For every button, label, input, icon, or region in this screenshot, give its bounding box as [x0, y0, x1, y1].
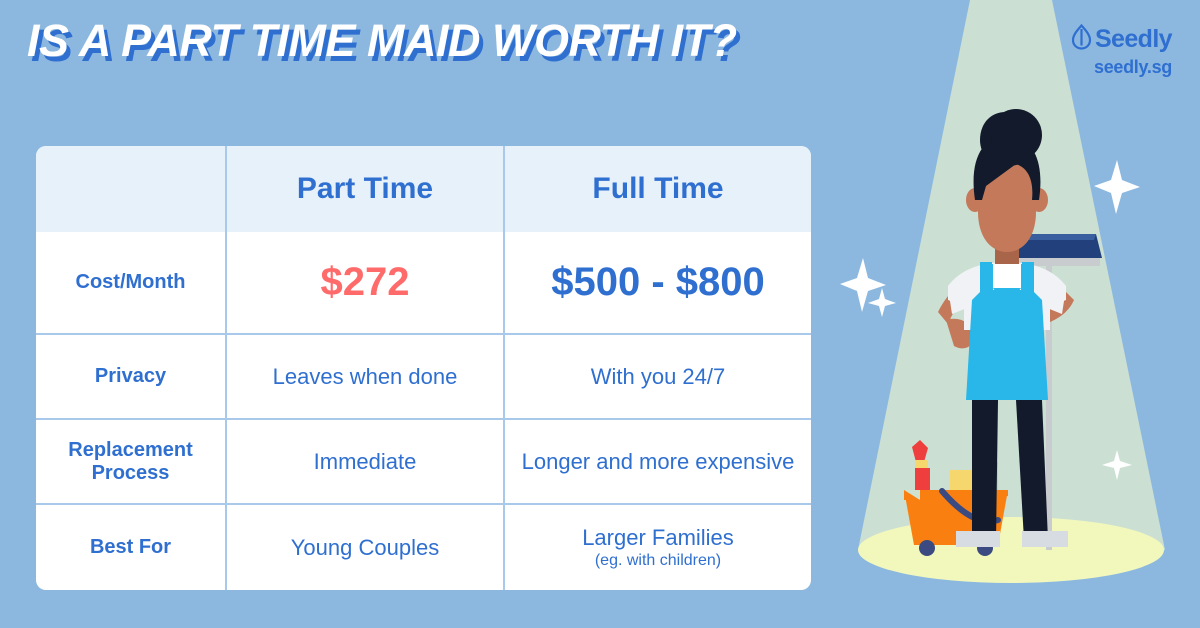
best-for-part-time-value: Young Couples: [291, 535, 439, 561]
row-label-best-for: Best For: [36, 505, 227, 590]
best-for-full-time-main: Larger Families: [582, 525, 734, 550]
cell-best-for-part-time: Young Couples: [227, 505, 505, 590]
floor-light-pool: [858, 517, 1164, 583]
brand-url: seedly.sg: [1071, 58, 1172, 76]
cell-replacement-full-time: Longer and more expensive: [505, 420, 811, 505]
page-title: IS A PART TIME MAID WORTH IT?: [27, 17, 737, 64]
cell-cost-part-time: $272: [227, 232, 505, 335]
apron-strap-right: [1022, 262, 1034, 300]
apron-bib-notch: [993, 264, 1021, 290]
table-header-corner: [36, 146, 227, 232]
seedly-leaf-drop-icon: [1071, 24, 1092, 55]
table-row: Replacement Process Immediate Longer and…: [36, 420, 811, 505]
sponge-icon: [950, 470, 974, 490]
replacement-full-time-value: Longer and more expensive: [522, 449, 795, 475]
replacement-part-time-value: Immediate: [314, 449, 417, 475]
illustration-scene: [820, 0, 1200, 628]
cell-cost-full-time: $500 - $800: [505, 232, 811, 335]
row-label-replacement: Replacement Process: [36, 420, 227, 505]
column-header-full-time: Full Time: [505, 146, 811, 232]
table-row: Cost/Month $272 $500 - $800: [36, 232, 811, 335]
cost-part-time-value: $272: [321, 260, 410, 305]
best-for-full-time-value: Larger Families (eg. with children): [582, 525, 734, 571]
sparkle-icon: [868, 288, 896, 317]
cost-full-time-value: $500 - $800: [551, 260, 765, 305]
privacy-part-time-value: Leaves when done: [273, 364, 458, 390]
bucket-wheel: [919, 540, 935, 556]
infographic-canvas: IS A PART TIME MAID WORTH IT? Seedly see…: [0, 0, 1200, 628]
brand-logo[interactable]: Seedly seedly.sg: [1071, 24, 1172, 76]
column-header-part-time: Part Time: [227, 146, 505, 232]
best-for-full-time-note: (eg. with children): [582, 552, 734, 571]
row-label-privacy: Privacy: [36, 335, 227, 420]
shoe-right: [1022, 531, 1068, 547]
cell-privacy-full-time: With you 24/7: [505, 335, 811, 420]
table-row: Privacy Leaves when done With you 24/7: [36, 335, 811, 420]
brand-name: Seedly: [1095, 27, 1172, 52]
privacy-full-time-value: With you 24/7: [591, 364, 726, 390]
table-header-row: Part Time Full Time: [36, 146, 811, 232]
sparkle-icon: [1094, 160, 1140, 214]
table-row: Best For Young Couples Larger Families (…: [36, 505, 811, 590]
comparison-table: Part Time Full Time Cost/Month $272 $500…: [36, 146, 811, 590]
leg-left: [972, 400, 998, 540]
row-label-cost: Cost/Month: [36, 232, 227, 335]
cell-best-for-full-time: Larger Families (eg. with children): [505, 505, 811, 590]
cell-replacement-part-time: Immediate: [227, 420, 505, 505]
shoe-left: [956, 531, 1000, 547]
cell-privacy-part-time: Leaves when done: [227, 335, 505, 420]
apron-strap-left: [980, 262, 992, 300]
